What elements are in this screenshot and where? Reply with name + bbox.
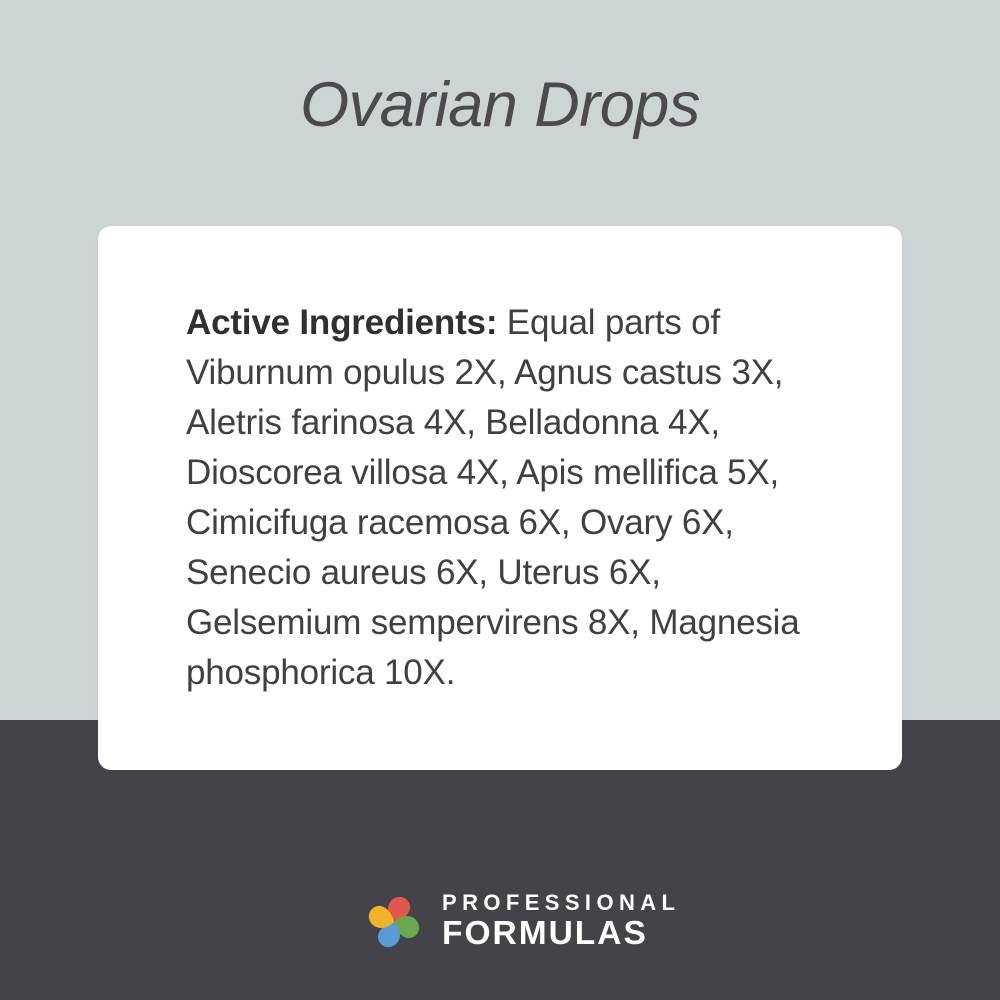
brand-wordmark-line-2: FORMULAS [442, 916, 680, 951]
ingredients-card-body: Active Ingredients: Equal parts of Vibur… [186, 298, 826, 698]
ingredients-body-text: Equal parts of Viburnum opulus 2X, Agnus… [186, 303, 800, 692]
brand-logo: PROFESSIONAL FORMULAS [363, 888, 653, 956]
brand-wordmark-line-1: PROFESSIONAL [442, 891, 680, 916]
ingredients-card: Active Ingredients: Equal parts of Vibur… [98, 226, 902, 770]
page-title: Ovarian Drops [0, 74, 1000, 137]
product-label-canvas: Ovarian Drops Active Ingredients: Equal … [0, 0, 1000, 1000]
ingredients-label: Active Ingredients: [186, 303, 497, 342]
four-petal-flower-logo-icon [363, 891, 425, 953]
ingredients-paragraph: Active Ingredients: Equal parts of Vibur… [186, 298, 826, 698]
brand-wordmark: PROFESSIONAL FORMULAS [442, 891, 680, 953]
